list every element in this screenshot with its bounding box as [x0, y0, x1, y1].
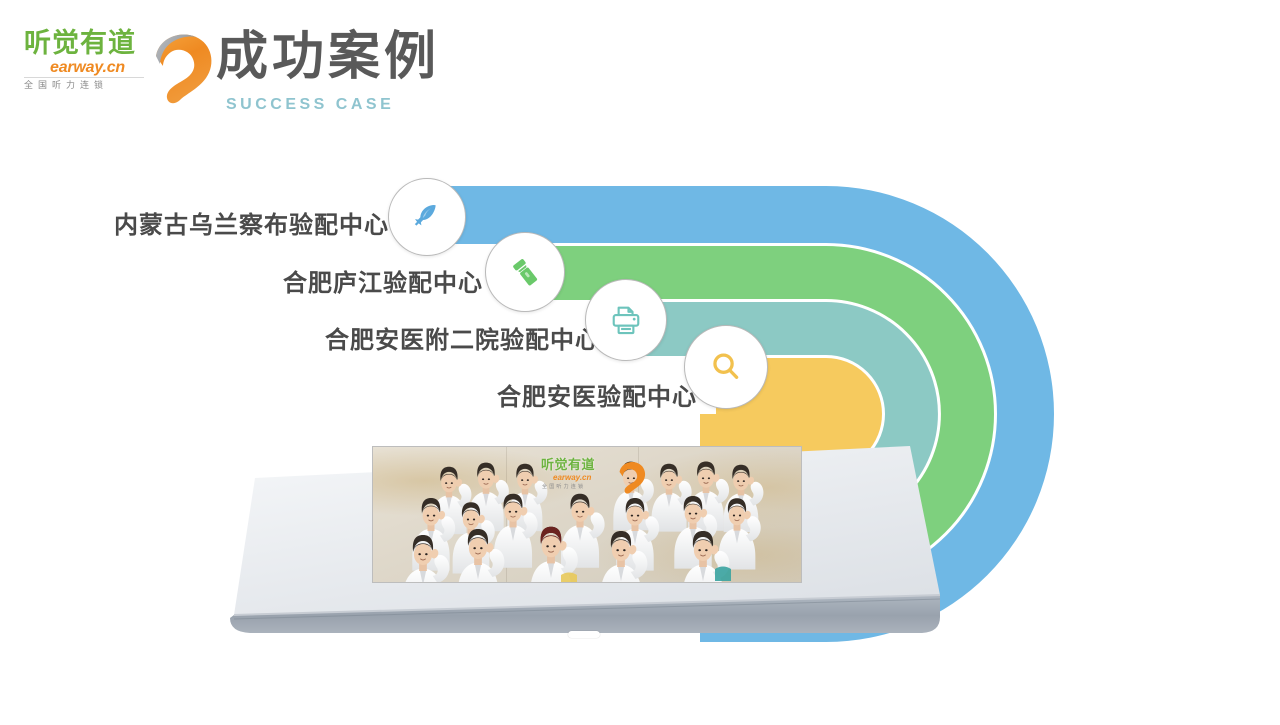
case-icon-bubble-2[interactable] [585, 279, 667, 361]
case-label-2[interactable]: 合肥安医附二院验配中心 [325, 328, 600, 352]
case-icon-bubble-1[interactable] [485, 232, 565, 312]
photo-ear-swoosh-icon [615, 457, 649, 497]
case-icon-bubble-3[interactable] [684, 325, 768, 409]
slide-root: 听觉有道 earway.cn 全国听力连锁 [0, 0, 1280, 720]
flashlight-icon [508, 255, 543, 290]
feather-icon [410, 200, 444, 234]
photo-brand-logo: 听觉有道 earway.cn 全国听力连锁 [541, 459, 671, 499]
case-label-list: 内蒙古乌兰察布验配中心 合肥庐江验配中心 合肥安医附二院验配中心 合肥安医验配中… [0, 0, 1280, 720]
photo-brand-tagline: 全国听力连锁 [542, 485, 585, 490]
photo-brand-name-en: earway.cn [553, 474, 591, 482]
printer-icon [608, 302, 644, 338]
case-label-0[interactable]: 内蒙古乌兰察布验配中心 [114, 213, 389, 237]
search-icon [708, 349, 744, 385]
case-label-3[interactable]: 合肥安医验配中心 [497, 385, 697, 409]
photo-brand-name-cn: 听觉有道 [541, 459, 595, 472]
tablet-screen: 听觉有道 earway.cn 全国听力连锁 [372, 446, 802, 583]
home-button[interactable] [568, 631, 600, 638]
case-label-1[interactable]: 合肥庐江验配中心 [283, 271, 483, 295]
case-icon-bubble-0[interactable] [388, 178, 466, 256]
